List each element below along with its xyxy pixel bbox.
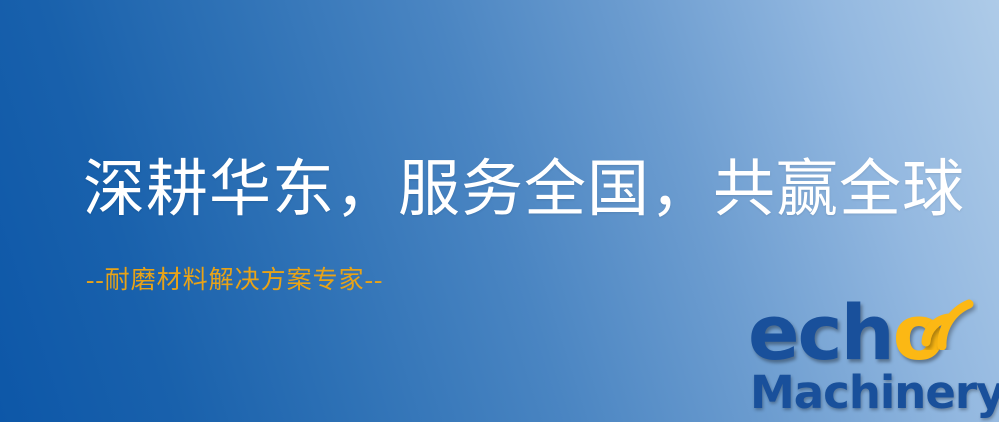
logo-brand-row: echo: [748, 296, 943, 370]
banner-subtitle: --耐磨材料解决方案专家--: [86, 266, 383, 296]
signal-waves-icon: [916, 292, 978, 350]
logo-brand-text-ech: ech: [748, 296, 893, 370]
logo-tagline-row: Machinery®: [750, 368, 999, 418]
logo-tagline-text: Machinery: [750, 368, 999, 418]
banner-headline: 深耕华东，服务全国，共赢全球: [83, 155, 965, 225]
hero-banner: 深耕华东，服务全国，共赢全球 --耐磨材料解决方案专家-- echo Machi…: [0, 0, 999, 422]
company-logo[interactable]: echo Machinery®: [748, 296, 996, 420]
